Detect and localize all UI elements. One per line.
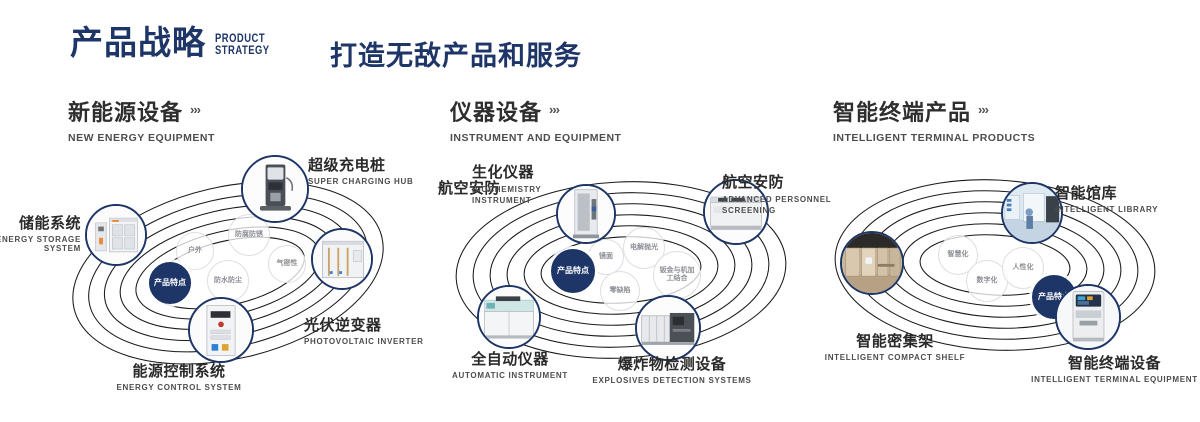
feature-bubble-sheetmetal-machining: 钣金与机加工结合	[653, 251, 701, 299]
section-header-instrument: 仪器设备››› INSTRUMENT AND EQUIPMENT	[450, 95, 621, 144]
page-title-en: PRODUCT STRATEGY	[215, 34, 270, 57]
chevron-right-icons: ›››	[549, 102, 559, 117]
label-biochemistry-instrument: 生化仪器 BIOCHEMISTRY INSTRUMENT	[472, 161, 572, 206]
label-energy-storage-system: 储能系统 ENERGY STORAGE SYSTEM	[0, 212, 81, 253]
label-terminal-equipment: 智能终端设备 INTELLIGENT TERMINAL EQUIPMENT	[1017, 352, 1200, 384]
chevron-right-icons: ›››	[978, 102, 988, 117]
explosives-detector-icon	[637, 297, 699, 359]
node-compact-shelf[interactable]	[840, 231, 904, 295]
smart-library-icon	[1003, 184, 1061, 242]
feature-bubble-zero-defect: 零缺陷	[600, 271, 640, 311]
node-energy-storage-system[interactable]	[85, 204, 147, 266]
feature-bubble-airtight: 气密性	[268, 245, 306, 283]
section-title-en: NEW ENERGY EQUIPMENT	[68, 132, 215, 144]
diagram-new-energy: 户外 防腐防锈 防水防尘 气密性 产品特点	[40, 155, 440, 385]
page-canvas: 产品战略 PRODUCT STRATEGY 打造无敌产品和服务 新能源设备›››…	[0, 0, 1200, 422]
page-subtitle: 打造无敌产品和服务	[330, 34, 582, 73]
center-bubble-product-features: 产品特点	[551, 249, 595, 293]
node-explosives-detector[interactable]	[635, 295, 701, 361]
section-title-en: INSTRUMENT AND EQUIPMENT	[450, 132, 621, 144]
terminal-kiosk-icon	[1057, 286, 1119, 348]
diagram-intelligent-terminal: 智慧化 数字化 人性化 产品特点	[810, 155, 1200, 385]
diagram-instrument: 镜面 电解抛光 钣金与机加工结合 零缺陷 产品特点	[425, 155, 825, 385]
section-title-cn: 仪器设备	[450, 95, 542, 127]
label-automatic-instrument: 全自动仪器 AUTOMATIC INSTRUMENT	[420, 348, 600, 380]
chevron-right-icons: ›››	[190, 102, 200, 117]
section-title-cn: 智能终端产品	[833, 95, 971, 127]
page-title: 产品战略 PRODUCT STRATEGY	[70, 26, 282, 59]
label-energy-control-system: 能源控制系统 ENERGY CONTROL SYSTEM	[84, 360, 274, 392]
charging-pile-icon	[243, 157, 307, 221]
node-energy-control-system[interactable]	[188, 297, 254, 363]
node-terminal-kiosk[interactable]	[1055, 284, 1121, 350]
section-header-intelligent-terminal: 智能终端产品››› INTELLIGENT TERMINAL PRODUCTS	[833, 95, 1035, 144]
compact-shelf-icon	[842, 233, 902, 293]
page-title-en-line1: PRODUCT	[215, 34, 270, 46]
node-photovoltaic-inverter[interactable]	[311, 228, 373, 290]
control-cabinet-icon	[190, 299, 252, 361]
label-smart-library: 智能馆库 INTELLIGENT LIBRARY	[1055, 182, 1195, 214]
section-title-en: INTELLIGENT TERMINAL PRODUCTS	[833, 132, 1035, 144]
feature-bubble-waterproof: 防水防尘	[207, 260, 249, 302]
page-title-cn: 产品战略	[70, 26, 206, 59]
label-compact-shelf: 智能密集架 INTELLIGENT COMPACT SHELF	[800, 330, 990, 362]
section-header-new-energy: 新能源设备››› NEW ENERGY EQUIPMENT	[68, 95, 215, 144]
label-explosives-detection: 爆炸物检测设备 EXPLOSIVES DETECTION SYSTEMS	[577, 353, 767, 385]
label-photovoltaic-inverter: 光伏逆变器 PHOTOVOLTAIC INVERTER	[304, 314, 444, 346]
page-title-en-line2: STRATEGY	[215, 46, 270, 58]
inverter-cabinet-icon	[313, 230, 371, 288]
section-title-cn: 新能源设备	[68, 95, 183, 127]
node-smart-library[interactable]	[1001, 182, 1063, 244]
feature-bubble-outdoor: 户外	[176, 232, 214, 270]
center-bubble-product-features: 产品特点	[149, 262, 191, 304]
automatic-instrument-icon	[479, 287, 539, 347]
battery-cabinet-icon	[87, 206, 145, 264]
node-super-charging-hub[interactable]	[241, 155, 309, 223]
node-automatic-instrument[interactable]	[477, 285, 541, 349]
